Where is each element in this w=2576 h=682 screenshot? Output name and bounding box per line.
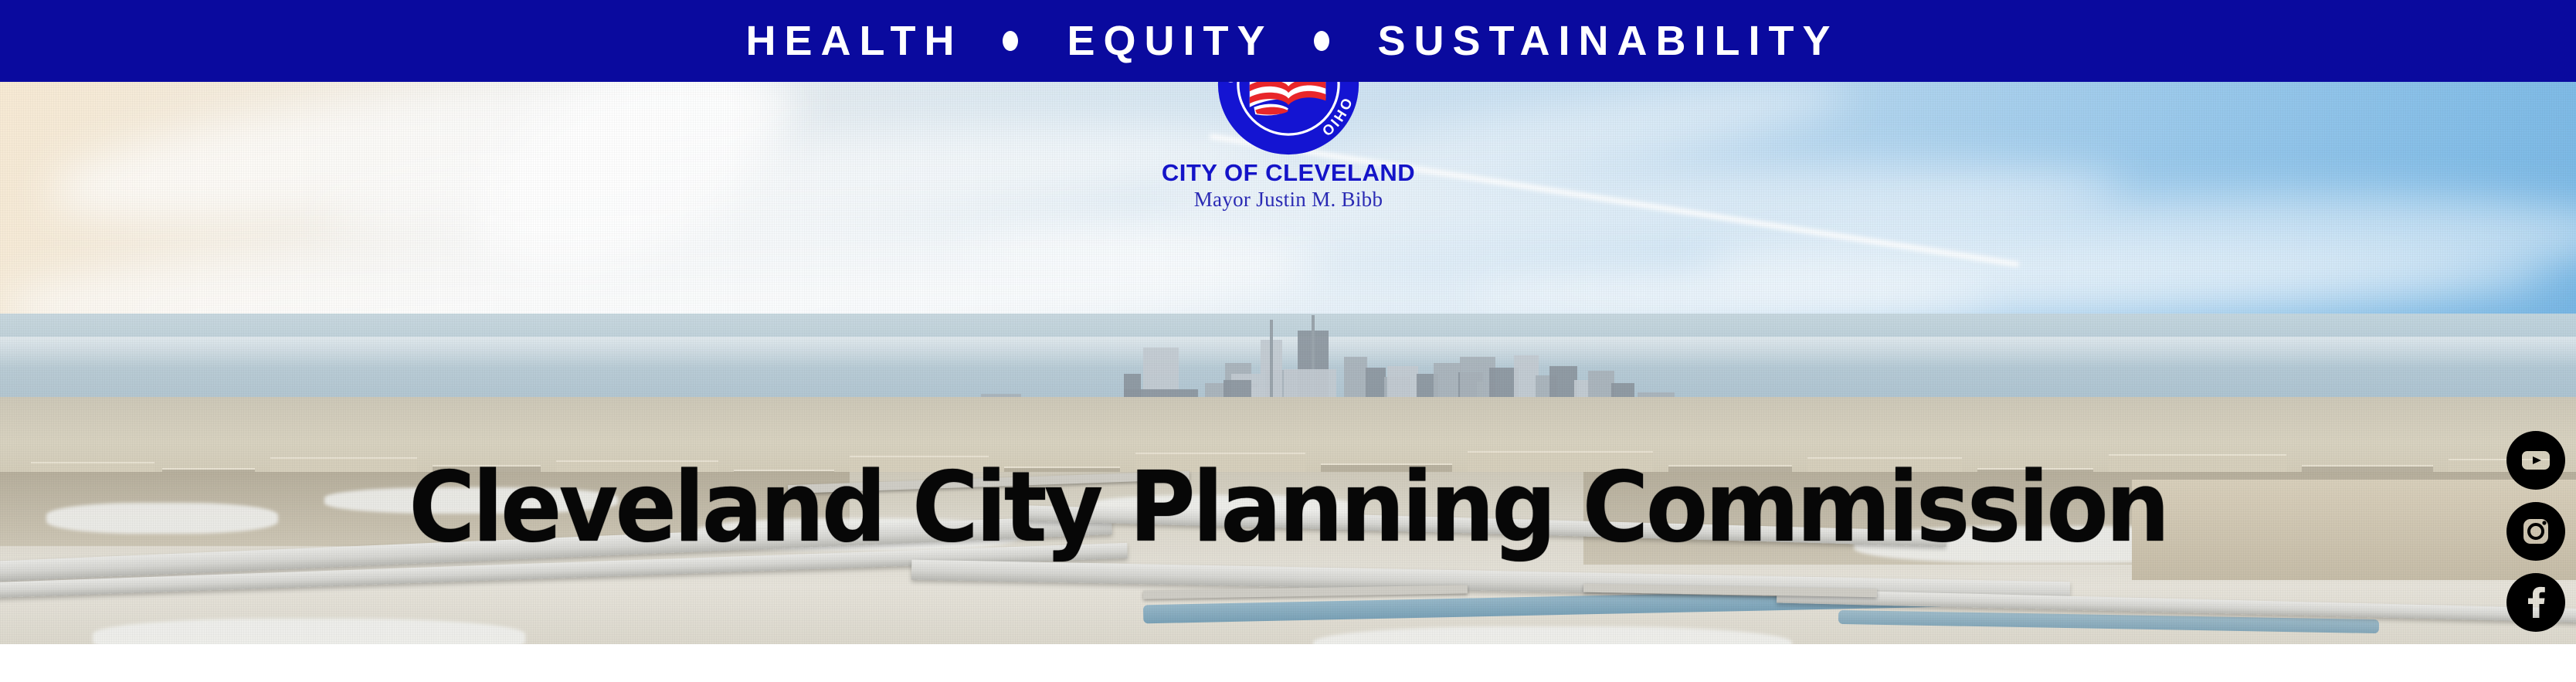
youtube-icon[interactable]: [2506, 431, 2565, 490]
logo-mayor-name: Mayor Justin M. Bibb: [1076, 188, 1501, 210]
bottom-white-strip: [0, 644, 2576, 682]
bridge: [1143, 585, 1468, 599]
tagline-separator-dot-2: [1314, 31, 1329, 51]
tagline-word-equity: EQUITY: [1058, 20, 1273, 62]
snow-patch: [93, 619, 525, 644]
tagline-banner: HEALTH EQUITY SUSTAINABILITY: [0, 0, 2576, 82]
page-title: Cleveland City Planning Commission: [90, 459, 2486, 556]
facebook-icon[interactable]: [2506, 573, 2565, 632]
logo-city-name: CITY OF CLEVELAND: [1076, 161, 1501, 186]
snow-patch: [1313, 626, 1792, 644]
social-links: [2506, 431, 2565, 632]
tagline-banner-inner: HEALTH EQUITY SUSTAINABILITY: [737, 20, 1838, 62]
tagline-word-sustainability: SUSTAINABILITY: [1369, 20, 1839, 62]
tagline-word-health: HEALTH: [737, 20, 962, 62]
tagline-separator-dot-1: [1003, 31, 1018, 51]
page-root: HEALTH EQUITY SUSTAINABILITY: [0, 0, 2576, 682]
instagram-icon[interactable]: [2506, 502, 2565, 561]
